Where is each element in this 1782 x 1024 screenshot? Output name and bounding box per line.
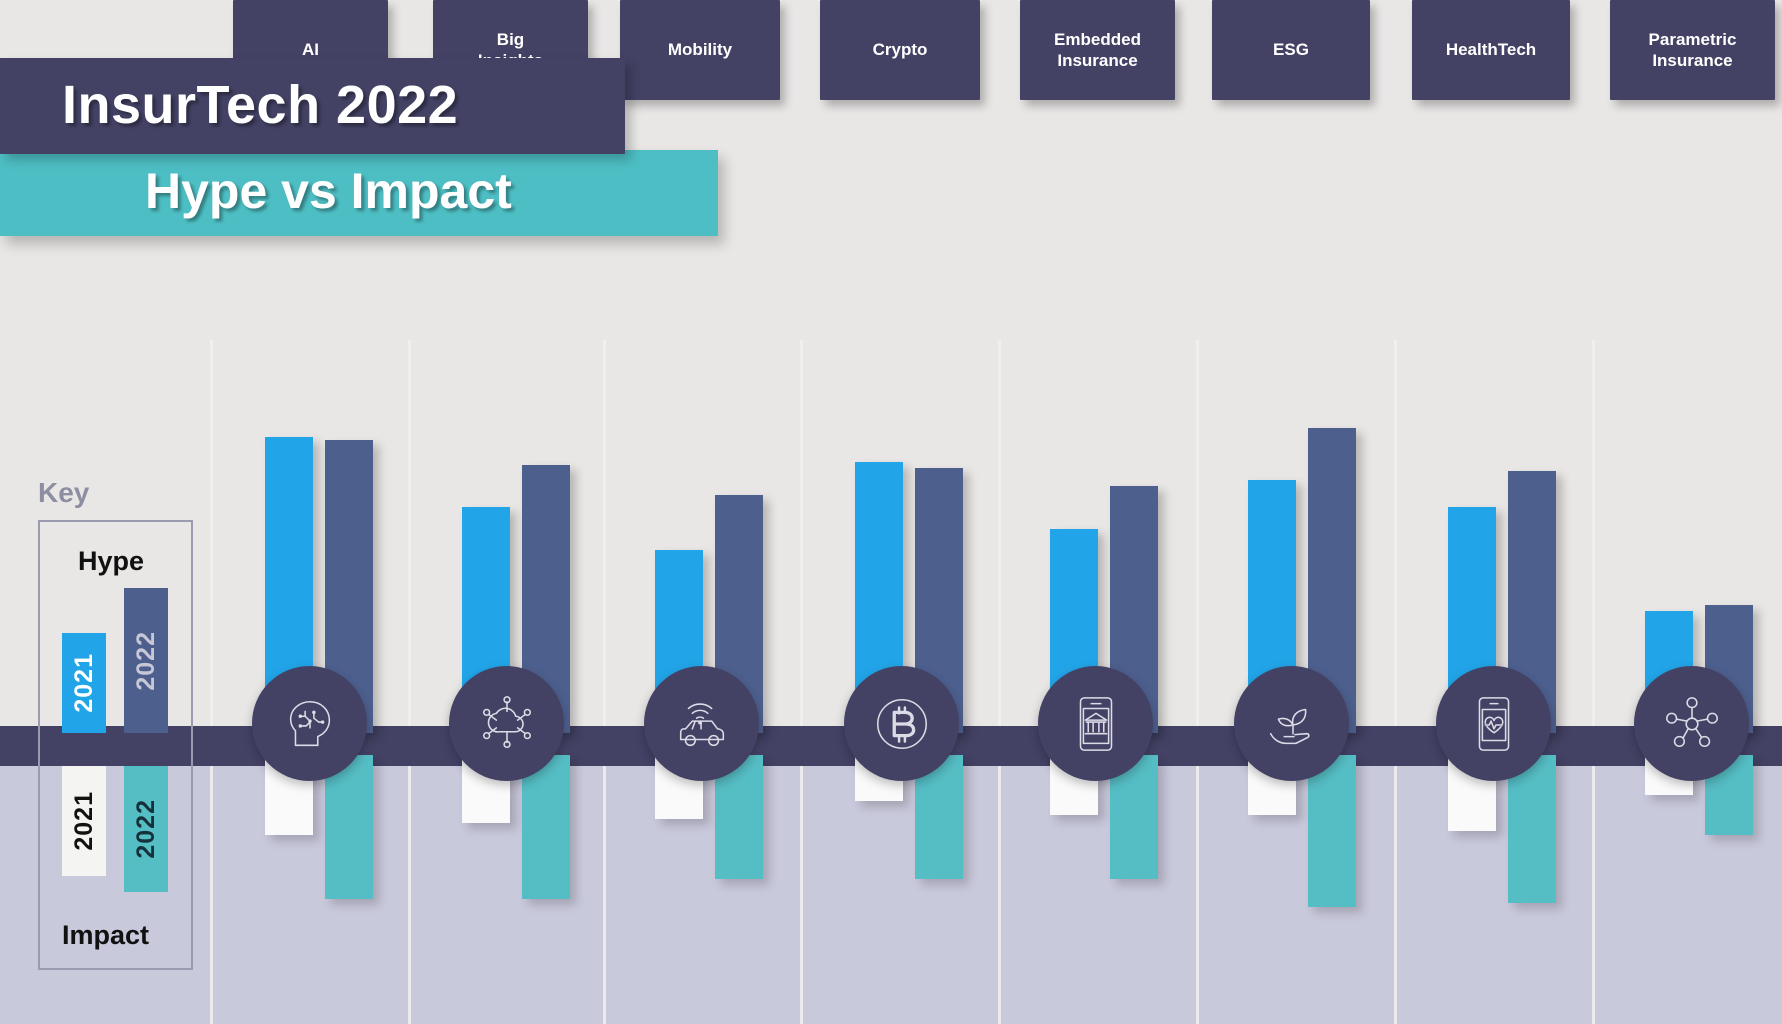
column-divider-2 xyxy=(603,340,606,1024)
key-bar-hype-2022: 2022 xyxy=(124,588,168,733)
column-divider-4 xyxy=(998,340,1001,1024)
key-bar-impact-2021-label: 2021 xyxy=(70,791,99,851)
bar-impact-2022-5 xyxy=(1308,755,1356,907)
category-header-label: ParametricInsurance xyxy=(1649,29,1737,72)
column-divider-5 xyxy=(1196,340,1199,1024)
column-divider-1 xyxy=(408,340,411,1024)
category-header-label: Crypto xyxy=(873,39,928,60)
key-label: Key xyxy=(38,477,89,509)
bitcoin-icon xyxy=(844,666,959,781)
column-divider-7 xyxy=(1592,340,1595,1024)
category-header-esg[interactable]: ESG xyxy=(1212,0,1370,100)
key-bar-hype-2021-label: 2021 xyxy=(70,653,99,713)
key-bar-impact-2022: 2022 xyxy=(124,766,168,892)
page-subtitle: Hype vs Impact xyxy=(0,150,718,236)
mobile-bank-icon xyxy=(1038,666,1153,781)
column-divider-0 xyxy=(210,340,213,1024)
title-block: InsurTech 2022 Hype vs Impact xyxy=(0,58,718,236)
category-header-label: EmbeddedInsurance xyxy=(1054,29,1141,72)
key-box xyxy=(38,520,193,970)
category-header-healthtech[interactable]: HealthTech xyxy=(1412,0,1570,100)
cloud-network-icon xyxy=(449,666,564,781)
category-header-label: HealthTech xyxy=(1446,39,1536,60)
hand-leaf-icon xyxy=(1234,666,1349,781)
mobile-heartbeat-icon xyxy=(1436,666,1551,781)
column-divider-3 xyxy=(800,340,803,1024)
page-title: InsurTech 2022 xyxy=(0,58,625,154)
category-header-label: ESG xyxy=(1273,39,1309,60)
key-bar-hype-2021: 2021 xyxy=(62,633,106,733)
key-bar-impact-2021: 2021 xyxy=(62,766,106,876)
bar-impact-2022-0 xyxy=(325,755,373,899)
bar-impact-2022-1 xyxy=(522,755,570,899)
column-divider-6 xyxy=(1394,340,1397,1024)
key-hype-label: Hype xyxy=(78,546,144,577)
category-header-embedded-insurance[interactable]: EmbeddedInsurance xyxy=(1020,0,1175,100)
key-bar-hype-2022-label: 2022 xyxy=(132,631,161,691)
ai-brain-icon xyxy=(252,666,367,781)
key-impact-label: Impact xyxy=(62,920,149,951)
connected-car-icon xyxy=(644,666,759,781)
bar-impact-2022-6 xyxy=(1508,755,1556,903)
network-hub-icon xyxy=(1634,666,1749,781)
key-bar-impact-2022-label: 2022 xyxy=(132,799,161,859)
category-header-parametric-insurance[interactable]: ParametricInsurance xyxy=(1610,0,1775,100)
category-header-crypto[interactable]: Crypto xyxy=(820,0,980,100)
